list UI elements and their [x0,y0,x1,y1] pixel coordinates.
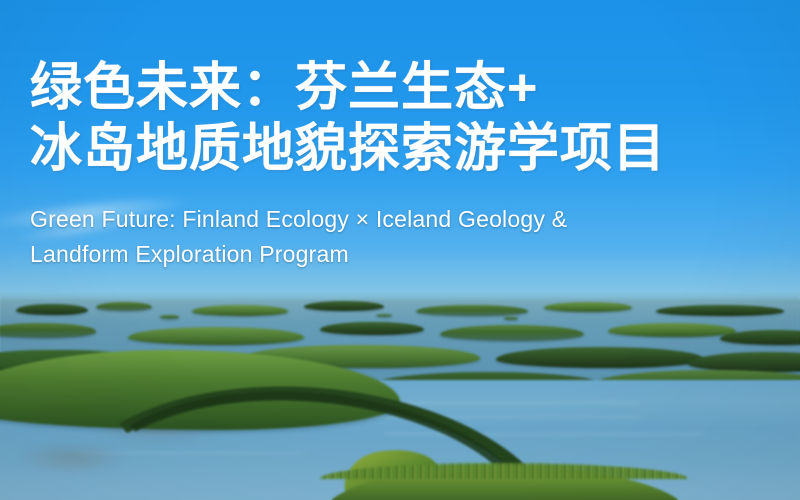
promo-banner: 绿色未来：芬兰生态+ 冰岛地质地貌探索游学项目 Green Future: Fi… [0,0,800,500]
banner-title: 绿色未来：芬兰生态+ 冰岛地质地貌探索游学项目 [30,58,800,180]
banner-title-line-2: 冰岛地质地貌探索游学项目 [30,119,800,180]
text-overlay: 绿色未来：芬兰生态+ 冰岛地质地貌探索游学项目 Green Future: Fi… [0,0,800,500]
banner-subtitle: Green Future: Finland Ecology × Iceland … [30,202,670,273]
banner-subtitle-line-2: Landform Exploration Program [30,237,670,273]
banner-title-line-1: 绿色未来：芬兰生态+ [30,58,800,119]
banner-subtitle-line-1: Green Future: Finland Ecology × Iceland … [30,202,670,238]
